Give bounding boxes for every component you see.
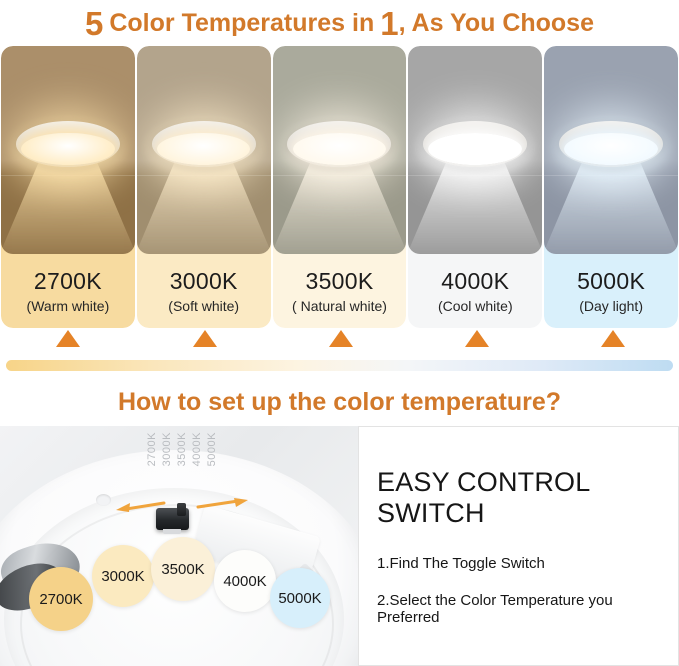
- toggle-switch[interactable]: [156, 508, 189, 530]
- fixture-lens: [157, 133, 251, 165]
- card-kelvin: 5000K: [577, 268, 645, 295]
- card-label: 2700K (Warm white): [1, 242, 135, 328]
- toggle-switch-foot: [163, 529, 181, 534]
- kelvin-badge[interactable]: 5000K: [270, 568, 330, 628]
- selection-marker-triangle: [56, 330, 80, 347]
- selection-marker-triangle: [465, 330, 489, 347]
- card-kelvin: 3000K: [170, 268, 238, 295]
- temperature-gradient-bar-wrap: [0, 352, 679, 378]
- headline-one: 1: [380, 7, 398, 40]
- card-label: 4000K (Cool white): [408, 242, 542, 328]
- kelvin-badge[interactable]: 3500K: [151, 537, 215, 601]
- color-temperature-card: 3000K (Soft white): [137, 46, 271, 328]
- card-kelvin: 2700K: [34, 268, 102, 295]
- card-kelvin: 4000K: [441, 268, 509, 295]
- panel-step-2: 2.Select the Color Temperature you Prefe…: [377, 592, 664, 626]
- color-temperature-card: 3500K ( Natural white): [273, 46, 407, 328]
- headline-count: 5: [85, 7, 103, 40]
- kelvin-tick-label: 2700K: [146, 432, 158, 466]
- color-temperature-card: 5000K (Day light): [544, 46, 678, 328]
- fixture-photo-3000K: [137, 46, 271, 254]
- kelvin-badge[interactable]: 3000K: [92, 545, 154, 607]
- howto-section: EASY CONTROL SWITCH 1.Find The Toggle Sw…: [0, 426, 679, 666]
- kelvin-tick-label: 3500K: [176, 432, 188, 466]
- kelvin-tick-label: 5000K: [206, 432, 218, 466]
- selection-marker-triangle: [329, 330, 353, 347]
- headline-middle: Color Temperatures in: [109, 11, 374, 36]
- instruction-panel: EASY CONTROL SWITCH 1.Find The Toggle Sw…: [358, 426, 679, 666]
- color-temperature-card: 4000K (Cool white): [408, 46, 542, 328]
- card-description: (Soft white): [168, 298, 239, 314]
- card-description: ( Natural white): [292, 298, 387, 314]
- selection-marker-triangle: [193, 330, 217, 347]
- ceiling-light-fixture: [16, 121, 120, 167]
- kelvin-tick-labels: 2700K3000K3500K4000K5000K: [146, 432, 218, 466]
- selection-marker-triangle: [601, 330, 625, 347]
- panel-step-1: 1.Find The Toggle Switch: [377, 555, 664, 572]
- temperature-gradient-bar: [6, 360, 673, 371]
- fixture-lens: [428, 133, 522, 165]
- card-description: (Warm white): [27, 298, 110, 314]
- color-temperature-card: 2700K (Warm white): [1, 46, 135, 328]
- ceiling-light-fixture: [559, 121, 663, 167]
- fixture-lens: [293, 133, 387, 165]
- card-label: 3500K ( Natural white): [273, 242, 407, 328]
- ceiling-light-fixture: [152, 121, 256, 167]
- fixture-photo-4000K: [408, 46, 542, 254]
- card-description: (Day light): [579, 298, 643, 314]
- toggle-switch-lever[interactable]: [177, 503, 186, 516]
- fixture-lens: [21, 133, 115, 165]
- card-kelvin: 3500K: [305, 268, 373, 295]
- ceiling-light-fixture: [287, 121, 391, 167]
- page-headline: 5 Color Temperatures in 1 , As You Choos…: [0, 0, 679, 46]
- fixture-photo-3500K: [273, 46, 407, 254]
- kelvin-tick-label: 4000K: [191, 432, 203, 466]
- kelvin-badge[interactable]: 4000K: [214, 550, 276, 612]
- arrow-right-icon: [196, 498, 252, 512]
- fixture-photo-2700K: [1, 46, 135, 254]
- fixture-photo-5000K: [544, 46, 678, 254]
- headline-tail: , As You Choose: [399, 11, 594, 36]
- panel-title: EASY CONTROL SWITCH: [377, 467, 664, 529]
- kelvin-tick-label: 3000K: [161, 432, 173, 466]
- card-description: (Cool white): [438, 298, 513, 314]
- housing-nub: [96, 494, 111, 506]
- kelvin-badge[interactable]: 2700K: [29, 567, 93, 631]
- ceiling-light-fixture: [423, 121, 527, 167]
- card-label: 3000K (Soft white): [137, 242, 271, 328]
- marker-row: [0, 328, 679, 352]
- fixture-lens: [564, 133, 658, 165]
- card-label: 5000K (Day light): [544, 242, 678, 328]
- section-subtitle: How to set up the color temperature?: [0, 378, 679, 426]
- color-temperature-card-strip: 2700K (Warm white) 3000K (Soft white): [0, 46, 679, 328]
